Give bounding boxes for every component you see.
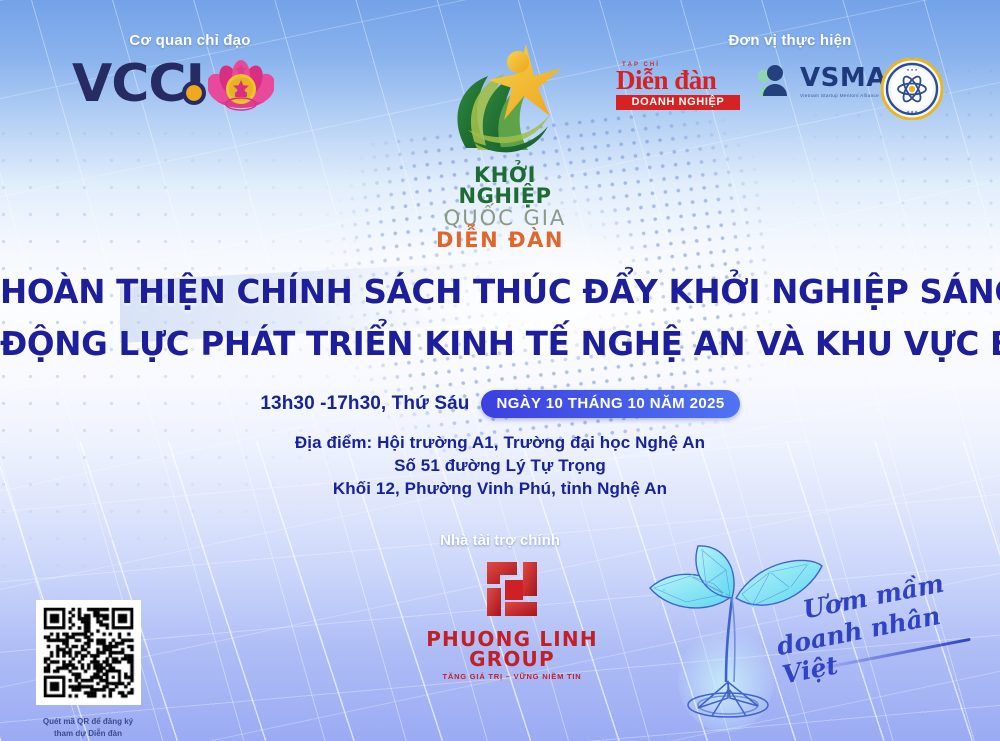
svg-text:★ ★ ★: ★ ★ ★ [906,110,917,114]
vsma-people-icon [755,62,793,100]
event-address-line3: Khối 12, Phường Vinh Phú, tỉnh Nghệ An [0,479,1000,499]
knqg-mark-icon [430,38,580,160]
knqg-line2: QUỐC GIA [430,207,580,230]
halftone-dots-right [760,60,1000,360]
page-title-line1: HOÀN THIỆN CHÍNH SÁCH THÚC ĐẨY KHỞI NGHI… [0,273,1000,311]
campaign-slogan: Ươm mầm doanh nhân Việt [778,582,978,682]
page-title-line2: ĐỘNG LỰC PHÁT TRIỂN KINH TẾ NGHỆ AN VÀ K… [0,325,1000,363]
event-address-line1: Địa điểm: Hội trường A1, Trường đại học … [0,433,1000,453]
vsma-wordmark: VSMA [800,65,887,91]
ddn-wordmark: Diễn đàn [616,68,740,94]
vcci-sun-icon [182,81,206,105]
directing-agency-label: Cơ quan chỉ đạo [60,32,320,49]
event-time-row: 13h30 -17h30, Thứ Sáu NGÀY 10 THÁNG 10 N… [0,390,1000,418]
phuong-linh-group-logo: PHUONG LINH GROUP TĂNG GIÁ TRỊ – VỮNG NI… [412,558,612,681]
diendan-doanhnghiep-logo: TẠP CHÍ Diễn đàn DOANH NGHIỆP [616,62,740,110]
event-date-badge: NGÀY 10 THÁNG 10 NĂM 2025 [481,390,739,418]
qr-registration-block[interactable]: Quét mã QR để đăng ký tham dự Diễn đàn [28,600,148,741]
vietnam-national-emblem-icon [208,58,274,118]
vsma-subtitle: Vietnam Startup Mentors Alliance [800,93,887,98]
svg-text:★ ★ ★: ★ ★ ★ [906,68,917,72]
plg-mark-icon [473,558,551,620]
organizing-unit-label: Đơn vị thực hiện [650,32,930,49]
khoi-nghiep-quoc-gia-logo: KHỞI NGHIỆP QUỐC GIA [430,38,580,198]
event-address-line2: Số 51 đường Lý Tự Trọng [0,456,1000,476]
vcci-logo: VCCI [72,58,197,110]
plg-wordmark: PHUONG LINH GROUP [412,629,612,669]
event-time: 13h30 -17h30, Thứ Sáu [260,393,469,415]
vsma-logo: VSMA Vietnam Startup Mentors Alliance [755,62,887,100]
qr-caption-line1: Quét mã QR để đăng ký [43,717,133,726]
knqg-line1: KHỞI NGHIỆP [430,165,580,207]
qr-caption: Quét mã QR để đăng ký tham dự Diễn đàn [28,716,148,741]
qr-caption-line2: tham dự Diễn đàn [54,729,122,738]
atom-seal-icon: ★ ★ ★ ★ ★ ★ [881,58,943,120]
plg-tagline: TĂNG GIÁ TRỊ – VỮNG NIỀM TIN [412,672,612,681]
event-poster: Cơ quan chỉ đạo Đơn vị thực hiện VCCI TẠ… [0,0,1000,741]
forum-kicker: DIỄN ĐÀN [0,228,1000,252]
qr-code-image[interactable] [36,600,141,705]
ddn-subbar: DOANH NGHIỆP [616,95,740,110]
